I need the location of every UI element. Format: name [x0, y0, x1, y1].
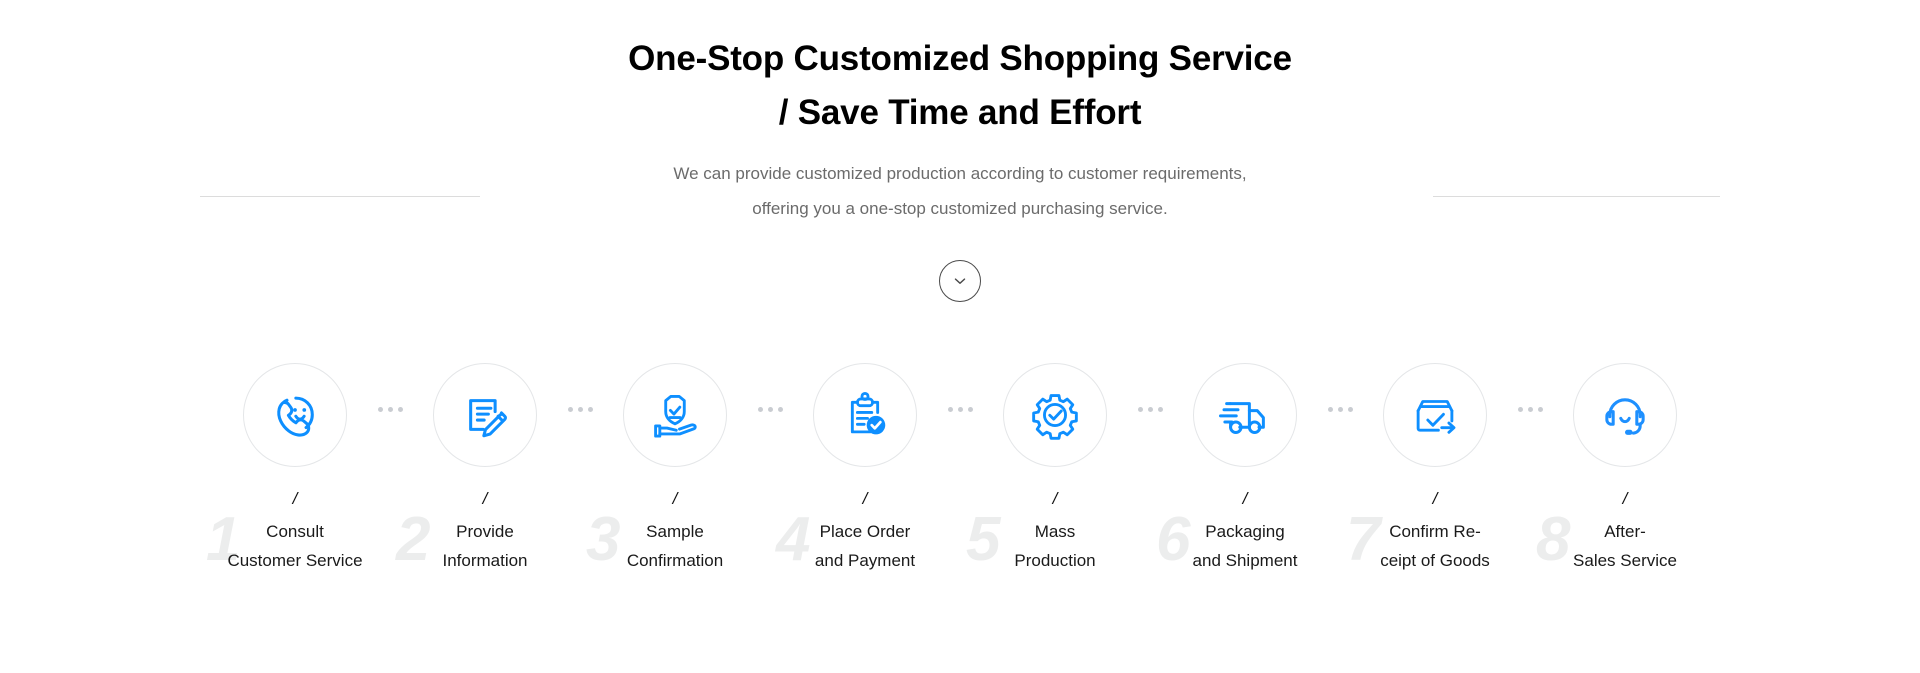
separator-dot — [398, 407, 403, 412]
step-label-line-1: Consult — [200, 517, 390, 546]
step-icon-circle — [1193, 363, 1297, 467]
step-separator — [371, 407, 409, 412]
chevron-down-icon — [951, 272, 969, 290]
step-label: Provide Information — [390, 517, 580, 575]
step-item[interactable]: / 8 After- Sales Service — [1549, 363, 1701, 575]
separator-dot — [778, 407, 783, 412]
step-label: Sample Confirmation — [580, 517, 770, 575]
divider-left — [200, 196, 480, 197]
section-header: One-Stop Customized Shopping Service / S… — [0, 0, 1920, 226]
step-item[interactable]: / 5 Mass Production — [979, 363, 1131, 575]
step-item[interactable]: / 6 Packaging and Shipment — [1169, 363, 1321, 575]
phone-smile-icon — [268, 388, 322, 442]
step-label-line-1: Packaging — [1150, 517, 1340, 546]
step-label-line-2: ceipt of Goods — [1340, 546, 1530, 575]
step-caption: / 3 Sample Confirmation — [580, 489, 770, 575]
step-label-line-2: Customer Service — [200, 546, 390, 575]
step-label: Confirm Re- ceipt of Goods — [1340, 517, 1530, 575]
step-caption: / 5 Mass Production — [960, 489, 1150, 575]
step-label-line-1: Confirm Re- — [1340, 517, 1530, 546]
step-icon-circle — [433, 363, 537, 467]
separator-dot — [1538, 407, 1543, 412]
separator-dot — [968, 407, 973, 412]
section-subtitle: We can provide customized production acc… — [0, 140, 1920, 226]
step-icon-circle — [623, 363, 727, 467]
step-label-line-1: Place Order — [770, 517, 960, 546]
step-caption: / 2 Provide Information — [390, 489, 580, 575]
separator-dot — [768, 407, 773, 412]
step-label-line-2: Production — [960, 546, 1150, 575]
step-label-line-2: and Shipment — [1150, 546, 1340, 575]
step-separator — [941, 407, 979, 412]
step-separator — [1321, 407, 1359, 412]
separator-dot — [758, 407, 763, 412]
separator-dot — [1528, 407, 1533, 412]
separator-dot — [388, 407, 393, 412]
step-item[interactable]: / 3 Sample Confirmation — [599, 363, 751, 575]
hand-shield-check-icon — [648, 388, 702, 442]
step-separator — [1131, 407, 1169, 412]
step-label: Packaging and Shipment — [1150, 517, 1340, 575]
step-caption: / 6 Packaging and Shipment — [1150, 489, 1340, 575]
delivery-truck-icon — [1217, 387, 1273, 443]
separator-dot — [1348, 407, 1353, 412]
step-label-line-2: and Payment — [770, 546, 960, 575]
step-label-line-1: Provide — [390, 517, 580, 546]
step-caption: / 8 After- Sales Service — [1530, 489, 1720, 575]
step-separator — [561, 407, 599, 412]
step-item[interactable]: / 2 Provide Information — [409, 363, 561, 575]
separator-dot — [568, 407, 573, 412]
scroll-hint-wrapper — [0, 260, 1920, 302]
separator-dot — [1158, 407, 1163, 412]
step-label: After- Sales Service — [1530, 517, 1720, 575]
page-title: One-Stop Customized Shopping Service / S… — [0, 0, 1920, 140]
step-caption: / 4 Place Order and Payment — [770, 489, 960, 575]
gear-check-icon — [1028, 388, 1082, 442]
one-stop-service-section: One-Stop Customized Shopping Service / S… — [0, 0, 1920, 673]
step-label: Mass Production — [960, 517, 1150, 575]
separator-dot — [1518, 407, 1523, 412]
divider-right — [1433, 196, 1720, 197]
step-separator — [751, 407, 789, 412]
separator-dot — [958, 407, 963, 412]
step-label-line-2: Confirmation — [580, 546, 770, 575]
process-steps: / 1 Consult Customer Service — [0, 363, 1920, 575]
step-separator — [1511, 407, 1549, 412]
step-item[interactable]: / 1 Consult Customer Service — [219, 363, 371, 575]
title-line-1: One-Stop Customized Shopping Service — [0, 32, 1920, 86]
step-label-line-1: After- — [1530, 517, 1720, 546]
document-pencil-icon — [458, 388, 512, 442]
step-caption: / 1 Consult Customer Service — [200, 489, 390, 575]
step-label-line-1: Sample — [580, 517, 770, 546]
separator-dot — [588, 407, 593, 412]
separator-dot — [1338, 407, 1343, 412]
separator-dot — [1328, 407, 1333, 412]
step-icon-circle — [1003, 363, 1107, 467]
step-label: Consult Customer Service — [200, 517, 390, 575]
separator-dot — [1138, 407, 1143, 412]
subtitle-line-1: We can provide customized production acc… — [0, 156, 1920, 191]
separator-dot — [378, 407, 383, 412]
step-label: Place Order and Payment — [770, 517, 960, 575]
step-icon-circle — [1383, 363, 1487, 467]
scroll-down-button[interactable] — [939, 260, 981, 302]
step-item[interactable]: / 4 Place Order and Payment — [789, 363, 941, 575]
separator-dot — [1148, 407, 1153, 412]
box-check-arrow-icon — [1408, 388, 1462, 442]
separator-dot — [578, 407, 583, 412]
step-icon-circle — [1573, 363, 1677, 467]
step-label-line-2: Sales Service — [1530, 546, 1720, 575]
step-caption: / 7 Confirm Re- ceipt of Goods — [1340, 489, 1530, 575]
step-item[interactable]: / 7 Confirm Re- ceipt of Goods — [1359, 363, 1511, 575]
clipboard-check-icon — [838, 388, 892, 442]
step-icon-circle — [243, 363, 347, 467]
step-label-line-1: Mass — [960, 517, 1150, 546]
separator-dot — [948, 407, 953, 412]
step-label-line-2: Information — [390, 546, 580, 575]
title-line-2: / Save Time and Effort — [0, 86, 1920, 140]
step-icon-circle — [813, 363, 917, 467]
headset-smile-icon — [1598, 388, 1652, 442]
